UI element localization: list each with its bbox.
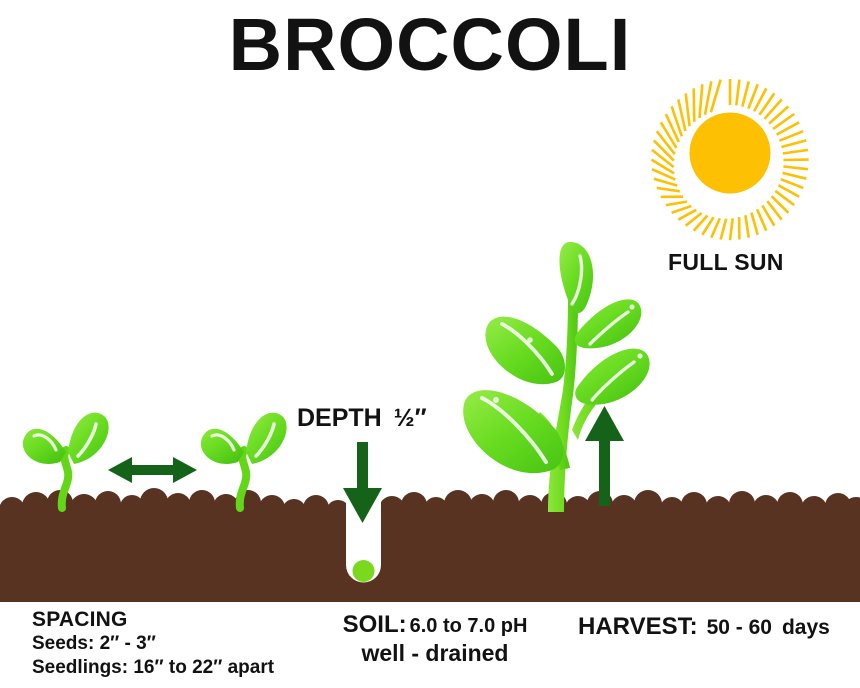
depth-label: DEPTH½″ xyxy=(297,404,427,433)
spacing-arrow xyxy=(108,457,197,483)
depth-value: ½″ xyxy=(394,404,427,432)
soil-heading: SOIL: xyxy=(343,611,407,638)
harvest-unit: days xyxy=(782,616,830,639)
harvest-heading: HARVEST: xyxy=(578,613,698,640)
seedling-right xyxy=(201,413,287,508)
soil-drainage: well - drained xyxy=(310,639,560,669)
soil-ph-value: 6.0 to 7.0 pH xyxy=(410,615,528,637)
page-title: BROCCOLI xyxy=(0,6,860,84)
spacing-heading: SPACING xyxy=(32,608,274,632)
broccoli-plant xyxy=(463,242,649,512)
soil-ground xyxy=(0,488,860,602)
broccoli-growing-infographic: BROCCOLI FULL SUN DEPTH½″ SPACING Seeds:… xyxy=(0,0,860,688)
soil-info: SOIL:6.0 to 7.0 pH well - drained xyxy=(310,611,560,669)
soil-ph-line: SOIL:6.0 to 7.0 pH xyxy=(310,611,560,639)
spacing-seeds-line: Seeds: 2″ - 3″ xyxy=(32,632,274,657)
spacing-info: SPACING Seeds: 2″ - 3″ Seedlings: 16″ to… xyxy=(32,608,274,681)
sun-icon xyxy=(651,79,808,240)
spacing-seedlings-line: Seedlings: 16″ to 22″ apart xyxy=(32,656,274,681)
harvest-arrow xyxy=(585,406,624,506)
harvest-value: 50 - 60 xyxy=(707,616,772,639)
harvest-info: HARVEST:50 - 60days xyxy=(578,613,830,641)
illustration-canvas xyxy=(0,0,860,688)
full-sun-label: FULL SUN xyxy=(668,249,784,276)
seed xyxy=(353,560,375,582)
depth-heading: DEPTH xyxy=(297,404,382,432)
